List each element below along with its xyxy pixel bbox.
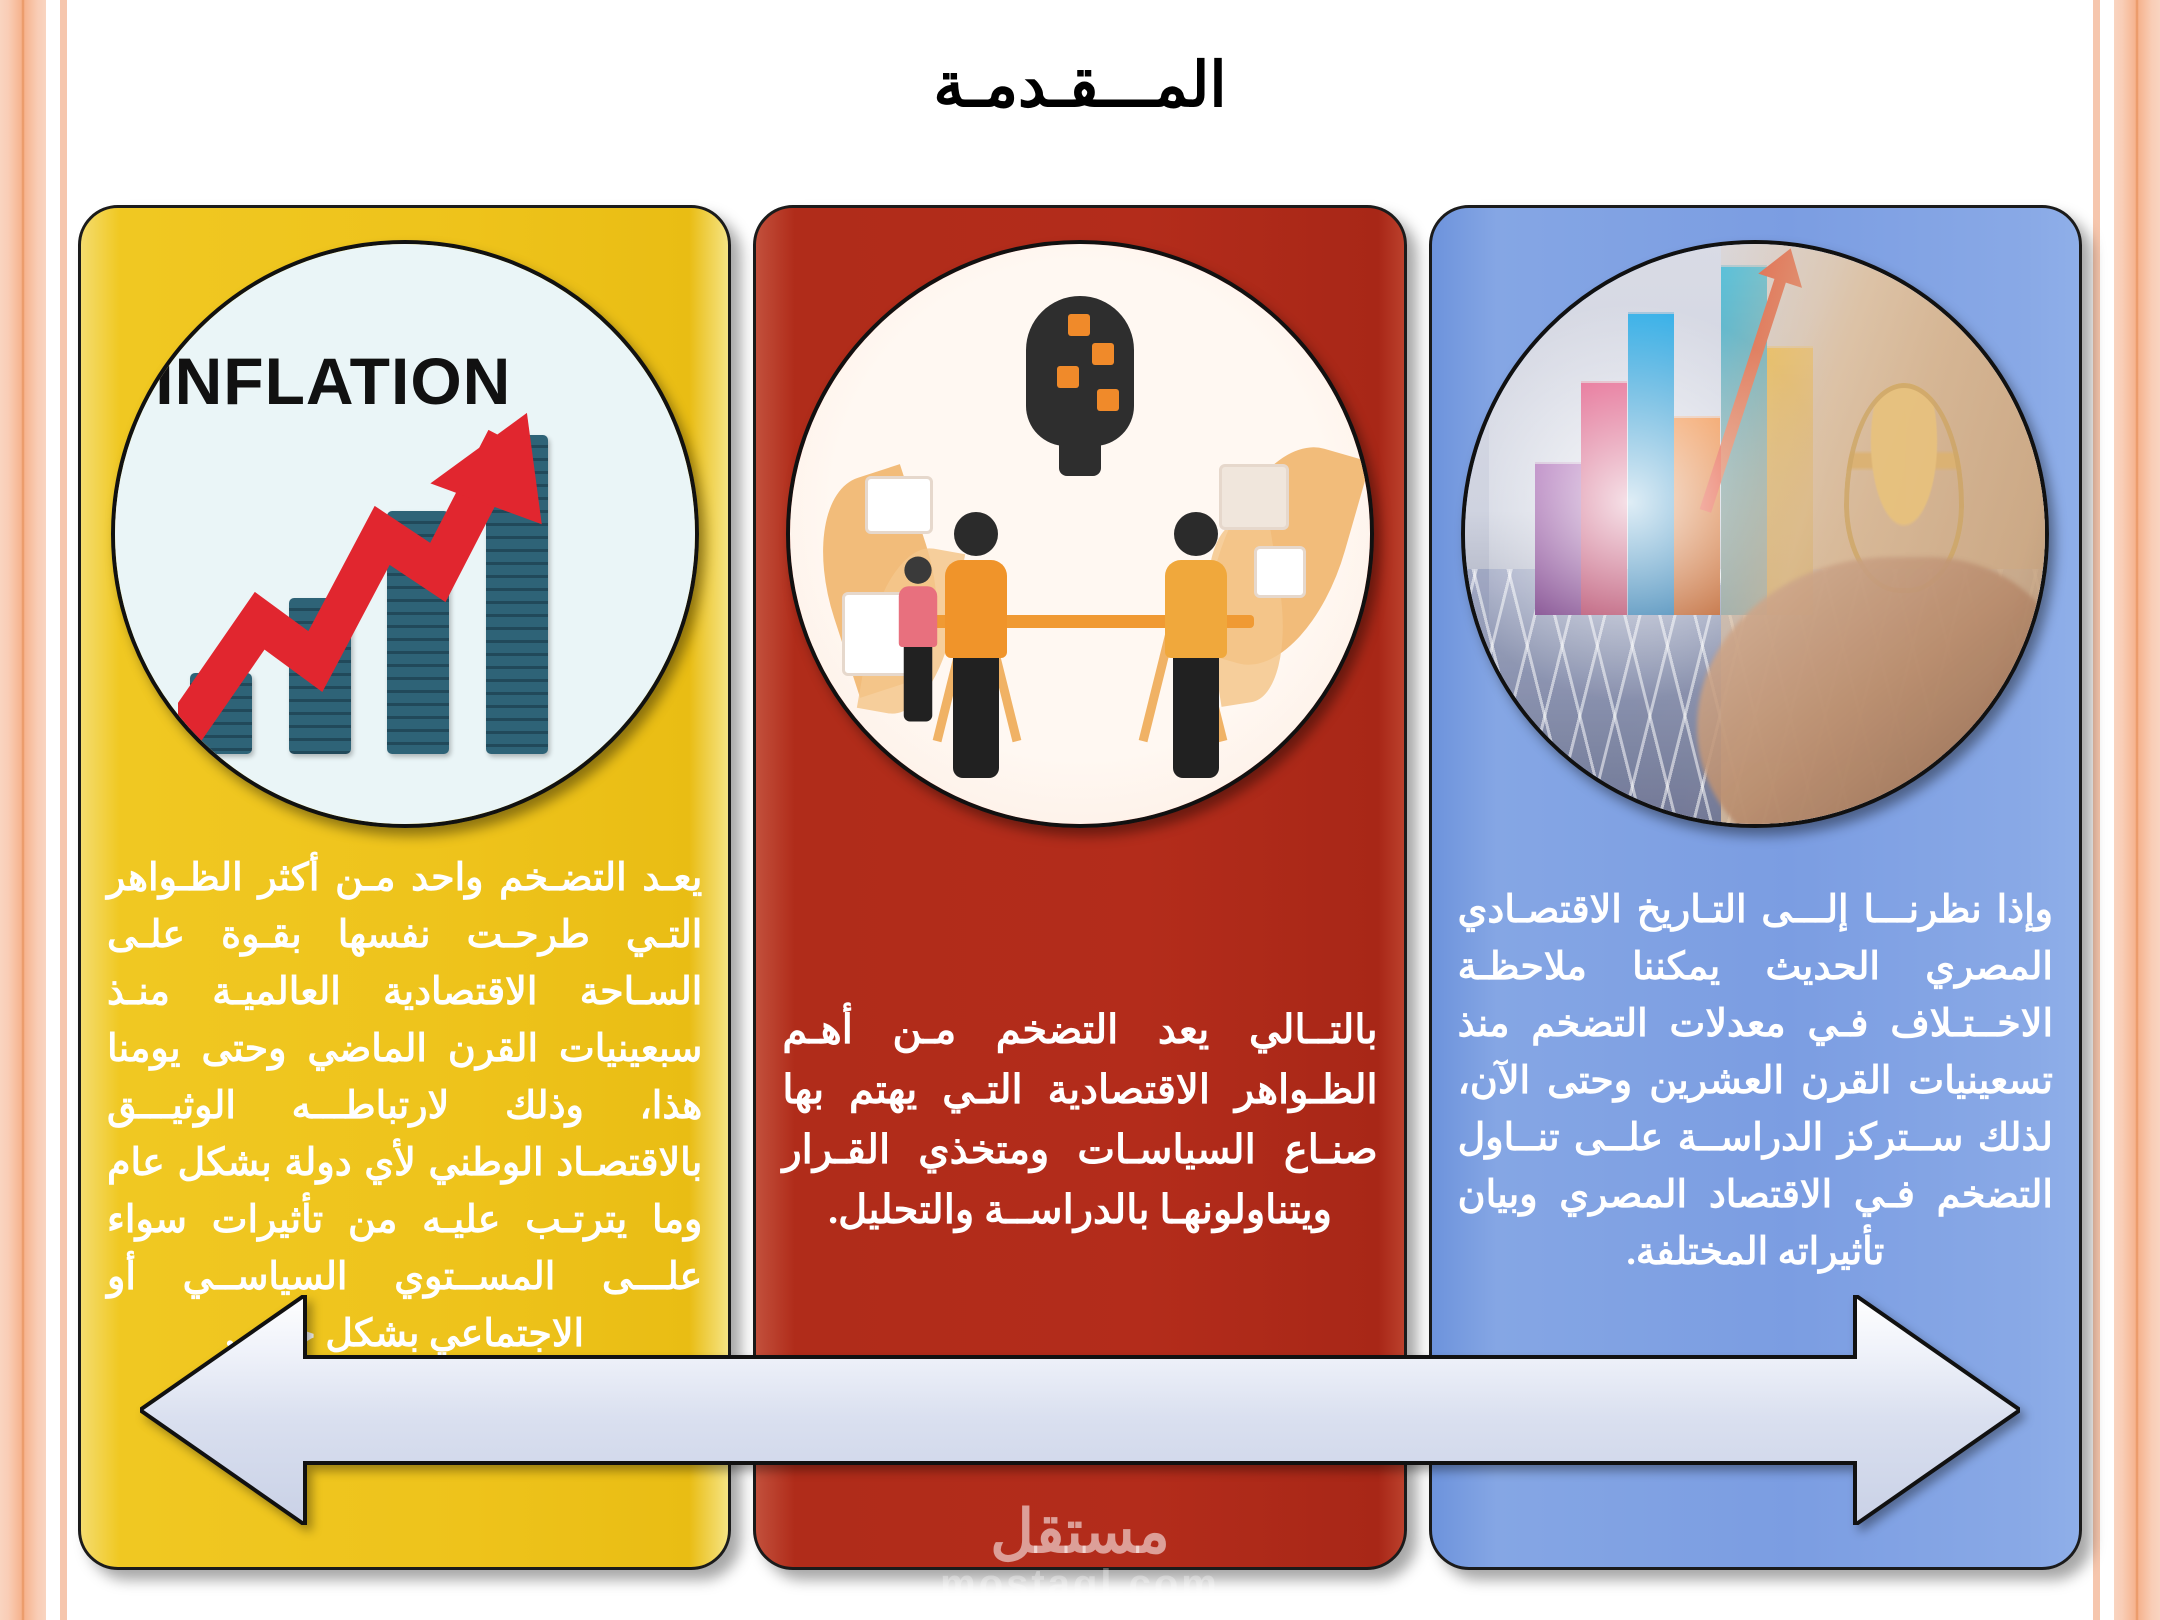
page-title: المـــقـدمـة	[0, 48, 2160, 122]
inflation-rising-coins-chart: INFLATION	[111, 240, 699, 828]
team-idea-lightbulb-illustration	[786, 240, 1374, 828]
frame-gutter-right	[2100, 0, 2114, 1620]
frame-band-left	[0, 0, 46, 1620]
yellow-card-text: يعـد التضـخم واحد مـن أكثر الظـواهر التـ…	[81, 850, 728, 1363]
slide-canvas: المـــقـدمـة	[0, 0, 2160, 1620]
frame-hairline-right	[2093, 0, 2100, 1620]
double-headed-arrow[interactable]	[140, 1295, 2020, 1525]
egyptian-banknote-bar-chart-photo	[1461, 240, 2049, 828]
frame-hairline-left	[60, 0, 67, 1620]
frame-gutter-left	[46, 0, 60, 1620]
red-card-text: بالتــالي يعد التضخم مـن أهـم الظـواهر ا…	[756, 1000, 1403, 1240]
red-up-arrow-icon	[178, 389, 549, 749]
blue-card-text: وإذا نظرنـــا إلـــى التـاريخ الاقتصـادي…	[1432, 882, 2079, 1281]
frame-band-right	[2114, 0, 2160, 1620]
